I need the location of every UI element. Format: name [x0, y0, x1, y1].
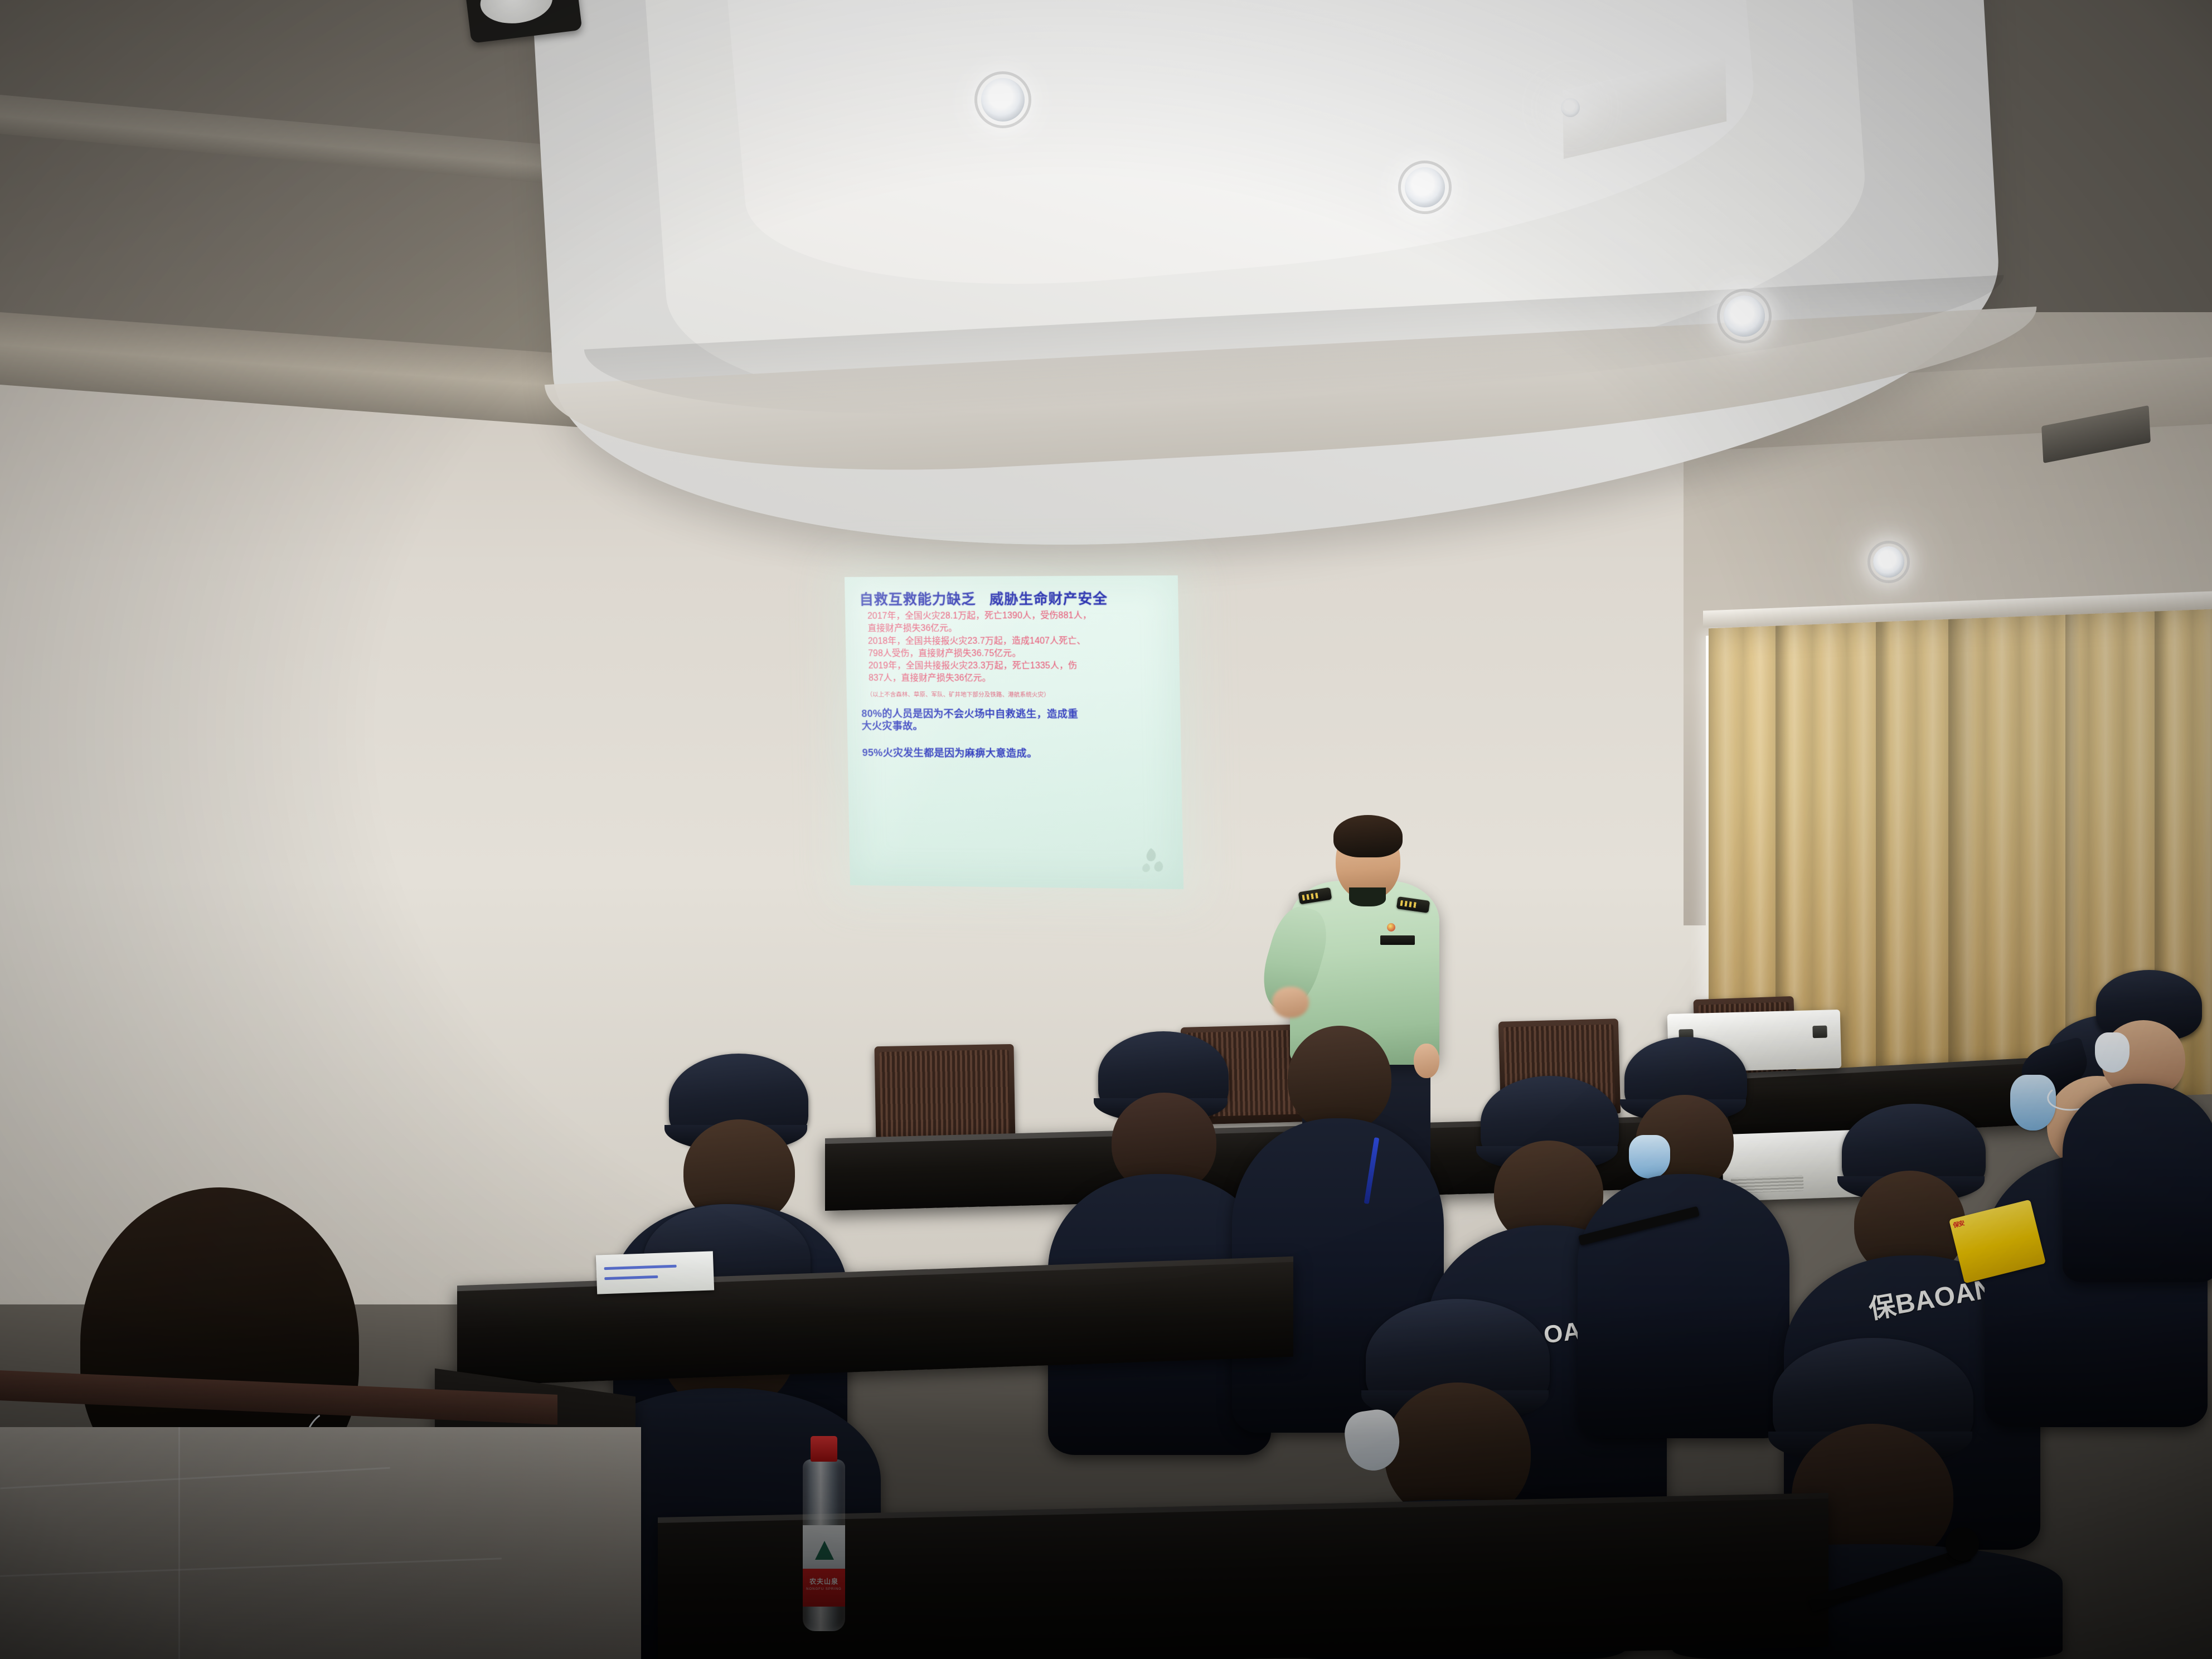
stat-line: 798人受伤，直接财产损失36.75亿元。: [860, 648, 1168, 659]
lecture-room-photo: 自救互救能力缺乏威胁生命财产安全 2017年，全国火灾28.1万起，死亡1390…: [0, 0, 2212, 1659]
slide-statistics: 2017年，全国火灾28.1万起，死亡1390人，受伤881人， 直接财产损失3…: [860, 610, 1168, 685]
bottle-brand: 农夫山泉: [803, 1576, 845, 1586]
bottle-label-lower: 农夫山泉 NONGFU SPRING: [803, 1569, 845, 1607]
clock-face: [478, 0, 555, 27]
emphasis-percent-80: 80%: [861, 708, 882, 719]
projected-slide: 自救互救能力缺乏威胁生命财产安全 2017年，全国火灾28.1万起，死亡1390…: [845, 575, 1183, 889]
chair-slats: [880, 1050, 1011, 1139]
slide-emphasis-80: 80%的人员是因为不会火场中自救逃生，造成重 大火灾事故。: [861, 707, 1169, 734]
stat-line: 837人，直接财产损失36亿元。: [861, 673, 1168, 685]
emphasis-text-80-line2: 大火灾事故。: [862, 720, 923, 731]
slide-title-right: 威胁生命财产安全: [989, 591, 1108, 607]
emphasis-text-80-line1: 的人员是因为不会火场中自救逃生，造成重: [882, 708, 1078, 720]
microphone-head-icon: [1946, 1527, 1979, 1561]
downlight-ring: [1398, 161, 1452, 214]
officer-chest-pin-icon: [1387, 923, 1395, 932]
slide-footnote: （以上不含森林、草原、军队、矿井地下部分及铁路、港航系统火灾）: [861, 690, 1169, 698]
floor: [0, 1427, 641, 1659]
officer-nametag: [1380, 935, 1415, 945]
stat-line: 2018年，全国共接报火灾23.7万起，造成1407人死亡、: [860, 636, 1168, 647]
face-mask: [1629, 1135, 1670, 1178]
attendee: [2063, 970, 2212, 1282]
stat-line: 直接财产损失36亿元。: [860, 623, 1167, 635]
downlight-ring: [974, 71, 1031, 128]
stat-line: 2019年，全国共接报火灾23.3万起，死亡1335人，伤: [861, 661, 1168, 672]
bottle-label-upper: [803, 1525, 845, 1569]
downlight-ring: [1717, 289, 1772, 343]
emphasis-percent-95: 95%: [862, 747, 882, 758]
emphasis-text-95: 火灾发生都是因为麻痹大意造成。: [882, 747, 1037, 759]
notebook: [596, 1251, 714, 1294]
bottle-brand-en: NONGFU SPRING: [803, 1588, 845, 1591]
downlight-ring: [1867, 541, 1910, 583]
slide-emphasis-95: 95%火灾发生都是因为麻痹大意造成。: [862, 746, 1170, 760]
armband-text: 保安: [1952, 1219, 1965, 1230]
downlight-icon: [1561, 98, 1580, 117]
officer-collar: [1349, 887, 1386, 906]
attendee-torso: [2063, 1084, 2212, 1282]
bottle-cap: [811, 1436, 837, 1462]
mountain-logo-icon: [815, 1541, 834, 1560]
stat-line: 2017年，全国火灾28.1万起，死亡1390人，受伤881人，: [860, 610, 1167, 622]
attendee-head: [1288, 1026, 1391, 1132]
slide-title: 自救互救能力缺乏威胁生命财产安全: [859, 591, 1167, 608]
officer-hand: [1272, 987, 1309, 1018]
chair: [874, 1044, 1015, 1147]
water-bottle: 农夫山泉 NONGFU SPRING: [798, 1436, 850, 1631]
officer-hair: [1333, 815, 1403, 857]
face-mask: [2095, 1032, 2129, 1073]
leaf-ornament-icon: [1133, 843, 1172, 881]
slide-title-left: 自救互救能力缺乏: [859, 591, 976, 608]
